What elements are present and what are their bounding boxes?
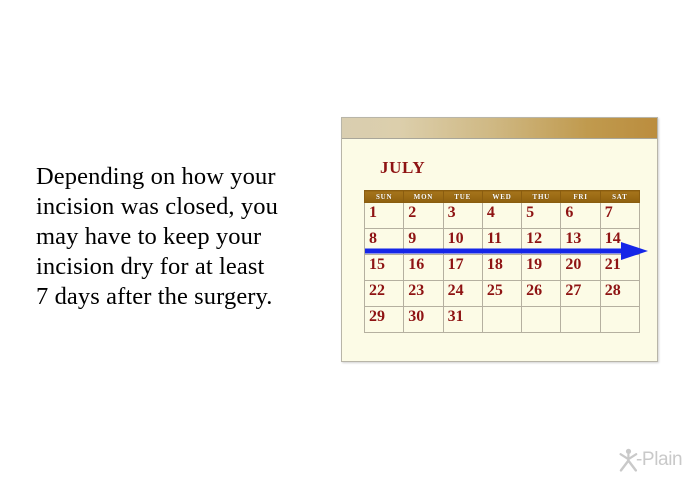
day-header-sat: SAT xyxy=(600,191,639,203)
day-header-wed: WED xyxy=(482,191,521,203)
calendar-day-cell[interactable]: 11 xyxy=(482,229,521,255)
calendar-day-cell[interactable]: 27 xyxy=(561,281,600,307)
calendar-day-cell[interactable] xyxy=(561,307,600,333)
calendar-day-cell[interactable]: 14 xyxy=(600,229,639,255)
calendar-day-cell[interactable]: 30 xyxy=(404,307,443,333)
calendar-day-cell[interactable]: 9 xyxy=(404,229,443,255)
calendar-day-cell[interactable]: 25 xyxy=(482,281,521,307)
calendar-month-title: JULY xyxy=(380,158,425,178)
calendar-day-cell[interactable] xyxy=(522,307,561,333)
calendar-day-cell[interactable]: 6 xyxy=(561,203,600,229)
calendar-day-cell[interactable]: 3 xyxy=(443,203,482,229)
calendar-panel: JULY SUN MON TUE WED THU FRI SAT 1 2 3 4… xyxy=(341,117,658,362)
day-header-tue: TUE xyxy=(443,191,482,203)
calendar-day-cell[interactable]: 18 xyxy=(482,255,521,281)
calendar-week-row: 15 16 17 18 19 20 21 xyxy=(365,255,640,281)
calendar-day-cell[interactable]: 17 xyxy=(443,255,482,281)
calendar-day-cell[interactable]: 4 xyxy=(482,203,521,229)
calendar-day-cell[interactable]: 12 xyxy=(522,229,561,255)
xplain-figure-icon xyxy=(618,448,638,472)
calendar-day-cell[interactable]: 16 xyxy=(404,255,443,281)
calendar-day-cell[interactable]: 5 xyxy=(522,203,561,229)
calendar-day-cell[interactable]: 31 xyxy=(443,307,482,333)
calendar-day-cell[interactable]: 23 xyxy=(404,281,443,307)
calendar-day-cell[interactable]: 7 xyxy=(600,203,639,229)
calendar-day-cell[interactable]: 15 xyxy=(365,255,404,281)
xplain-logo: -Plain xyxy=(618,447,694,473)
calendar-day-cell[interactable]: 19 xyxy=(522,255,561,281)
calendar-day-cell[interactable]: 13 xyxy=(561,229,600,255)
day-header-sun: SUN xyxy=(365,191,404,203)
calendar-day-cell[interactable]: 24 xyxy=(443,281,482,307)
calendar-week-row: 22 23 24 25 26 27 28 xyxy=(365,281,640,307)
slide-body-text: Depending on how your incision was close… xyxy=(36,162,328,312)
calendar-day-cell[interactable]: 29 xyxy=(365,307,404,333)
calendar-top-gradient-bar xyxy=(342,118,657,139)
calendar-week-row: 1 2 3 4 5 6 7 xyxy=(365,203,640,229)
calendar-week-row: 29 30 31 xyxy=(365,307,640,333)
calendar-day-cell[interactable]: 22 xyxy=(365,281,404,307)
calendar-day-cell[interactable]: 28 xyxy=(600,281,639,307)
calendar-day-cell[interactable]: 1 xyxy=(365,203,404,229)
calendar-day-cell[interactable]: 26 xyxy=(522,281,561,307)
xplain-logo-text: -Plain xyxy=(636,449,682,471)
calendar-grid: SUN MON TUE WED THU FRI SAT 1 2 3 4 5 6 … xyxy=(364,190,640,333)
calendar-day-cell[interactable]: 10 xyxy=(443,229,482,255)
calendar-day-cell[interactable]: 2 xyxy=(404,203,443,229)
calendar-week-row: 8 9 10 11 12 13 14 xyxy=(365,229,640,255)
day-header-thu: THU xyxy=(522,191,561,203)
day-header-fri: FRI xyxy=(561,191,600,203)
calendar-day-cell[interactable]: 8 xyxy=(365,229,404,255)
calendar-day-cell[interactable] xyxy=(482,307,521,333)
calendar-day-cell[interactable]: 21 xyxy=(600,255,639,281)
calendar-day-cell[interactable]: 20 xyxy=(561,255,600,281)
calendar-day-cell[interactable] xyxy=(600,307,639,333)
day-header-mon: MON xyxy=(404,191,443,203)
calendar-header-row: SUN MON TUE WED THU FRI SAT xyxy=(365,191,640,203)
